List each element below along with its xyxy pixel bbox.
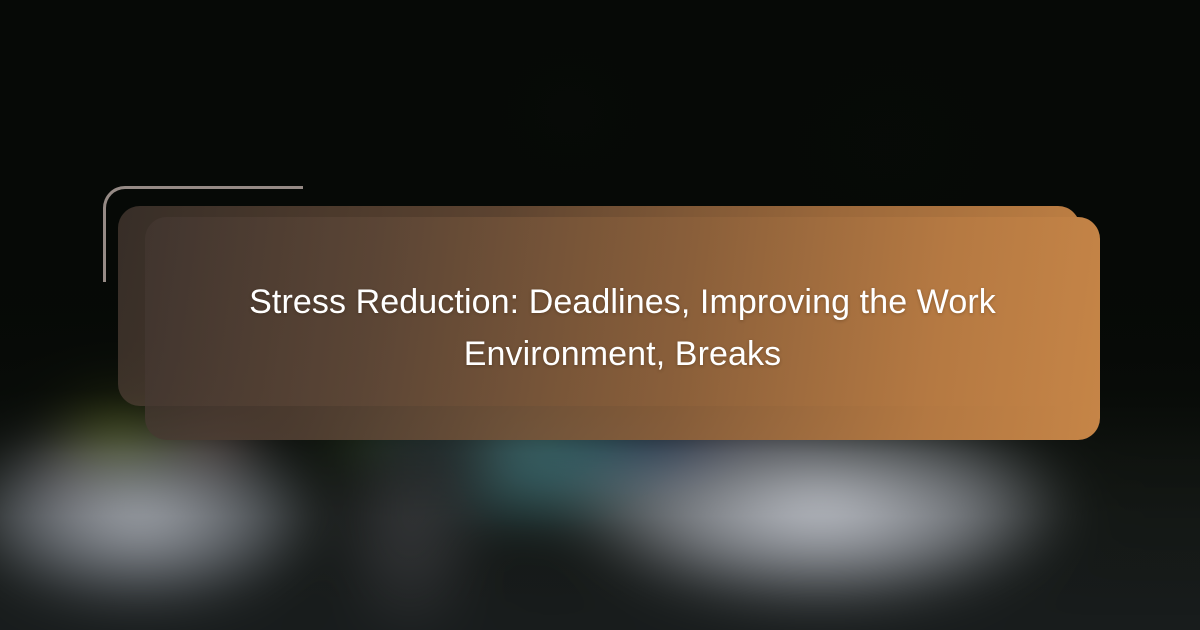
banner-canvas: Stress Reduction: Deadlines, Improving t… [0, 0, 1200, 630]
title-card: Stress Reduction: Deadlines, Improving t… [145, 217, 1100, 440]
banner-title: Stress Reduction: Deadlines, Improving t… [243, 277, 1003, 380]
